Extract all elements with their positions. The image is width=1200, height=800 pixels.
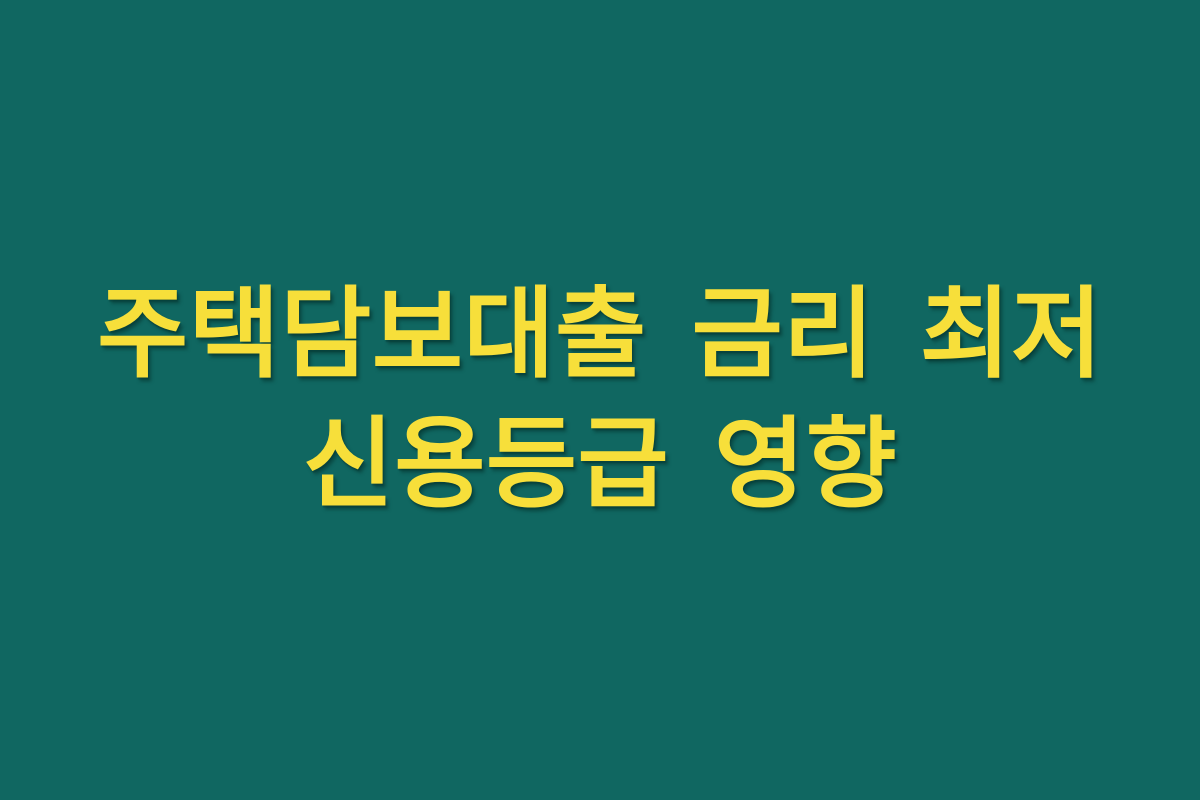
- banner-canvas: 주택담보대출 금리 최저 신용등급 영향: [0, 0, 1200, 800]
- headline-line-1: 주택담보대출 금리 최저: [50, 270, 1150, 400]
- headline-text-block: 주택담보대출 금리 최저 신용등급 영향: [50, 270, 1150, 530]
- headline-line-2: 신용등급 영향: [50, 400, 1150, 530]
